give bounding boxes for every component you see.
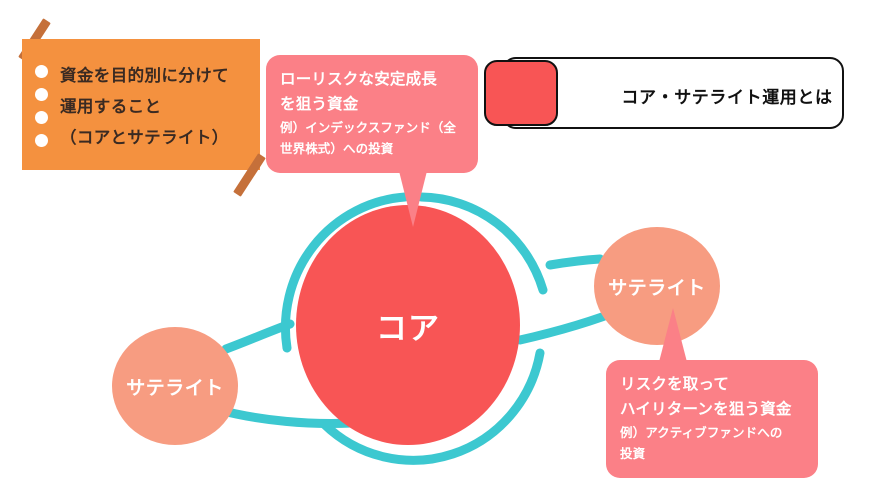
core-callout-example-line-1: 例）インデックスファンド（全 — [280, 118, 464, 139]
core-callout-headline-line-1: ローリスクな安定成長 — [280, 67, 464, 92]
core-callout-headline-line-2: を狙う資金 — [280, 92, 464, 117]
satellite-circle-right[interactable]: サテライト — [594, 227, 720, 345]
bullet-dot — [35, 88, 48, 101]
core-callout-example-line-2: 世界株式）への投資 — [280, 139, 464, 160]
core-callout-tail — [399, 171, 427, 227]
bullet-dot — [35, 111, 48, 124]
note-text-line-1: 資金を目的別に分けて — [60, 61, 256, 92]
page-title: コア・サテライト運用とは — [596, 59, 858, 131]
slide-canvas: コア サテライト サテライト ローリスクな安定成長 を狙う資金 例）インデックス… — [0, 0, 870, 489]
bullet-dot — [35, 65, 48, 78]
note-text-line-2: 運用すること — [60, 92, 256, 123]
slide-title-bar: コア・サテライト運用とは — [484, 57, 844, 129]
satellite-callout-example-line-2: 投資 — [620, 444, 804, 465]
title-accent-chip — [484, 60, 558, 126]
note-text: 資金を目的別に分けて 運用すること （コアとサテライト） — [60, 61, 256, 154]
core-callout[interactable]: ローリスクな安定成長 を狙う資金 例）インデックスファンド（全 世界株式）への投… — [266, 55, 478, 173]
satellite-callout[interactable]: リスクを取って ハイリターンを狙う資金 例）アクティブファンドへの 投資 — [606, 360, 818, 478]
core-circle[interactable]: コア — [296, 205, 520, 445]
connector-left-satellite-upper — [226, 324, 290, 349]
satellite-callout-example-line-1: 例）アクティブファンドへの — [620, 423, 804, 444]
core-label: コア — [376, 303, 440, 348]
satellite-callout-tail — [659, 308, 687, 362]
connector-right-satellite-upper — [550, 259, 600, 265]
definition-note-box[interactable]: 資金を目的別に分けて 運用すること （コアとサテライト） — [22, 39, 260, 170]
satellite-callout-headline-line-2: ハイリターンを狙う資金 — [620, 397, 804, 422]
note-bullet-list — [35, 65, 51, 157]
note-text-line-3: （コアとサテライト） — [60, 123, 256, 154]
satellite-circle-left[interactable]: サテライト — [112, 327, 238, 445]
satellite-callout-headline-line-1: リスクを取って — [620, 372, 804, 397]
bullet-dot — [35, 134, 48, 147]
satellite-label-left: サテライト — [126, 373, 224, 400]
satellite-label-right: サテライト — [608, 273, 706, 300]
